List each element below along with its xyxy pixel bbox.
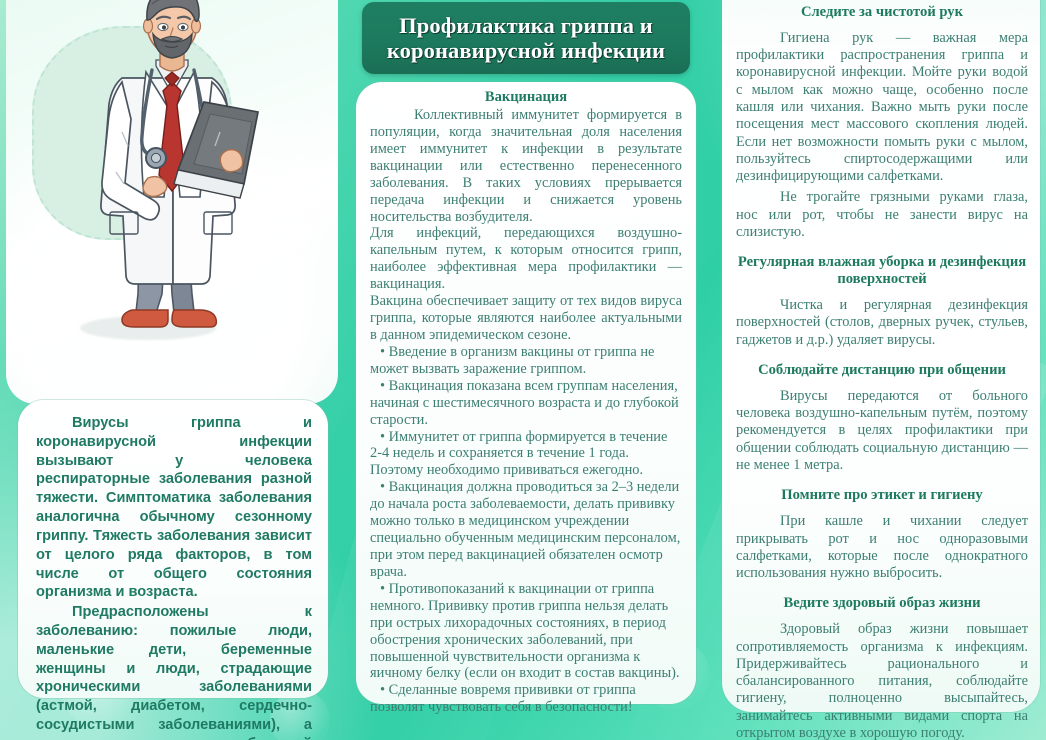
- vaccination-bullet-5: • Противопоказаний к вакцинации от грипп…: [370, 581, 682, 683]
- vaccination-bullet-4: • Вакцинация должна проводиться за 2–3 н…: [370, 479, 682, 581]
- healthy-lifestyle-paragraph-1: Здоровый образ жизни повышает сопротивля…: [736, 621, 1028, 740]
- vaccination-bullet-1: • Введение в организм вакцины от гриппа …: [370, 344, 682, 378]
- left-paragraph-2: Предрасположены к заболеванию: пожилые л…: [36, 603, 312, 740]
- poster-canvas: Вирусы гриппа и коронавирусной инфекции …: [0, 0, 1046, 740]
- left-intro-body: Вирусы гриппа и коронавирусной инфекции …: [18, 400, 328, 740]
- hand-hygiene-paragraph-2: Не трогайте грязными руками глаза, нос и…: [736, 189, 1028, 241]
- prevention-tips-card: Следите за чистотой рук Гигиена рук — ва…: [722, 0, 1040, 712]
- etiquette-paragraph-1: При кашле и чихании следует прикрывать р…: [736, 513, 1028, 582]
- left-intro-card: Вирусы гриппа и коронавирусной инфекции …: [18, 400, 328, 698]
- section-heading-healthy-lifestyle: Ведите здоровый образ жизни: [736, 595, 1028, 612]
- vaccination-card: Вакцинация Коллективный иммунитет формир…: [356, 82, 696, 704]
- vaccination-paragraph-3: Вакцина обеспечивает защиту от тех видов…: [370, 293, 682, 344]
- poster-title-banner: Профилактика гриппа и коронавирусной инф…: [362, 2, 690, 74]
- hand-hygiene-paragraph-1: Гигиена рук — важная мера профилактики р…: [736, 30, 1028, 186]
- doctor-illustration-icon: [52, 0, 292, 332]
- section-heading-cleaning: Регулярная влажная уборка и дезинфекция …: [736, 254, 1028, 288]
- page-title-line-1: Профилактика гриппа и: [399, 13, 653, 38]
- vaccination-bullet-2: • Вакцинация показана всем группам насел…: [370, 378, 682, 429]
- vaccination-paragraph-1: Коллективный иммунитет формируется в поп…: [370, 107, 682, 225]
- distance-paragraph-1: Вирусы передаются от больного человека в…: [736, 388, 1028, 474]
- vaccination-body: Вакцинация Коллективный иммунитет формир…: [356, 82, 696, 724]
- vaccination-paragraph-2: Для инфекций, передающихся воздушно-капе…: [370, 225, 682, 293]
- cleaning-paragraph-1: Чистка и регулярная дезинфекция поверхно…: [736, 297, 1028, 349]
- prevention-tips-body: Следите за чистотой рук Гигиена рук — ва…: [722, 0, 1040, 740]
- section-heading-hand-hygiene: Следите за чистотой рук: [736, 4, 1028, 21]
- section-heading-etiquette: Помните про этикет и гигиену: [736, 487, 1028, 504]
- section-heading-distance: Соблюдайте дистанцию при общении: [736, 362, 1028, 379]
- vaccination-bullet-6: • Сделанные вовремя прививки от гриппа п…: [370, 682, 682, 716]
- doctor-illustration-card: [6, 0, 338, 404]
- left-paragraph-1: Вирусы гриппа и коронавирусной инфекции …: [36, 414, 312, 602]
- page-title: Профилактика гриппа и коронавирусной инф…: [377, 13, 675, 64]
- page-title-line-2: коронавирусной инфекции: [387, 38, 665, 63]
- vaccination-bullet-3: • Иммунитет от гриппа формируется в тече…: [370, 429, 682, 480]
- vaccination-heading: Вакцинация: [370, 89, 682, 106]
